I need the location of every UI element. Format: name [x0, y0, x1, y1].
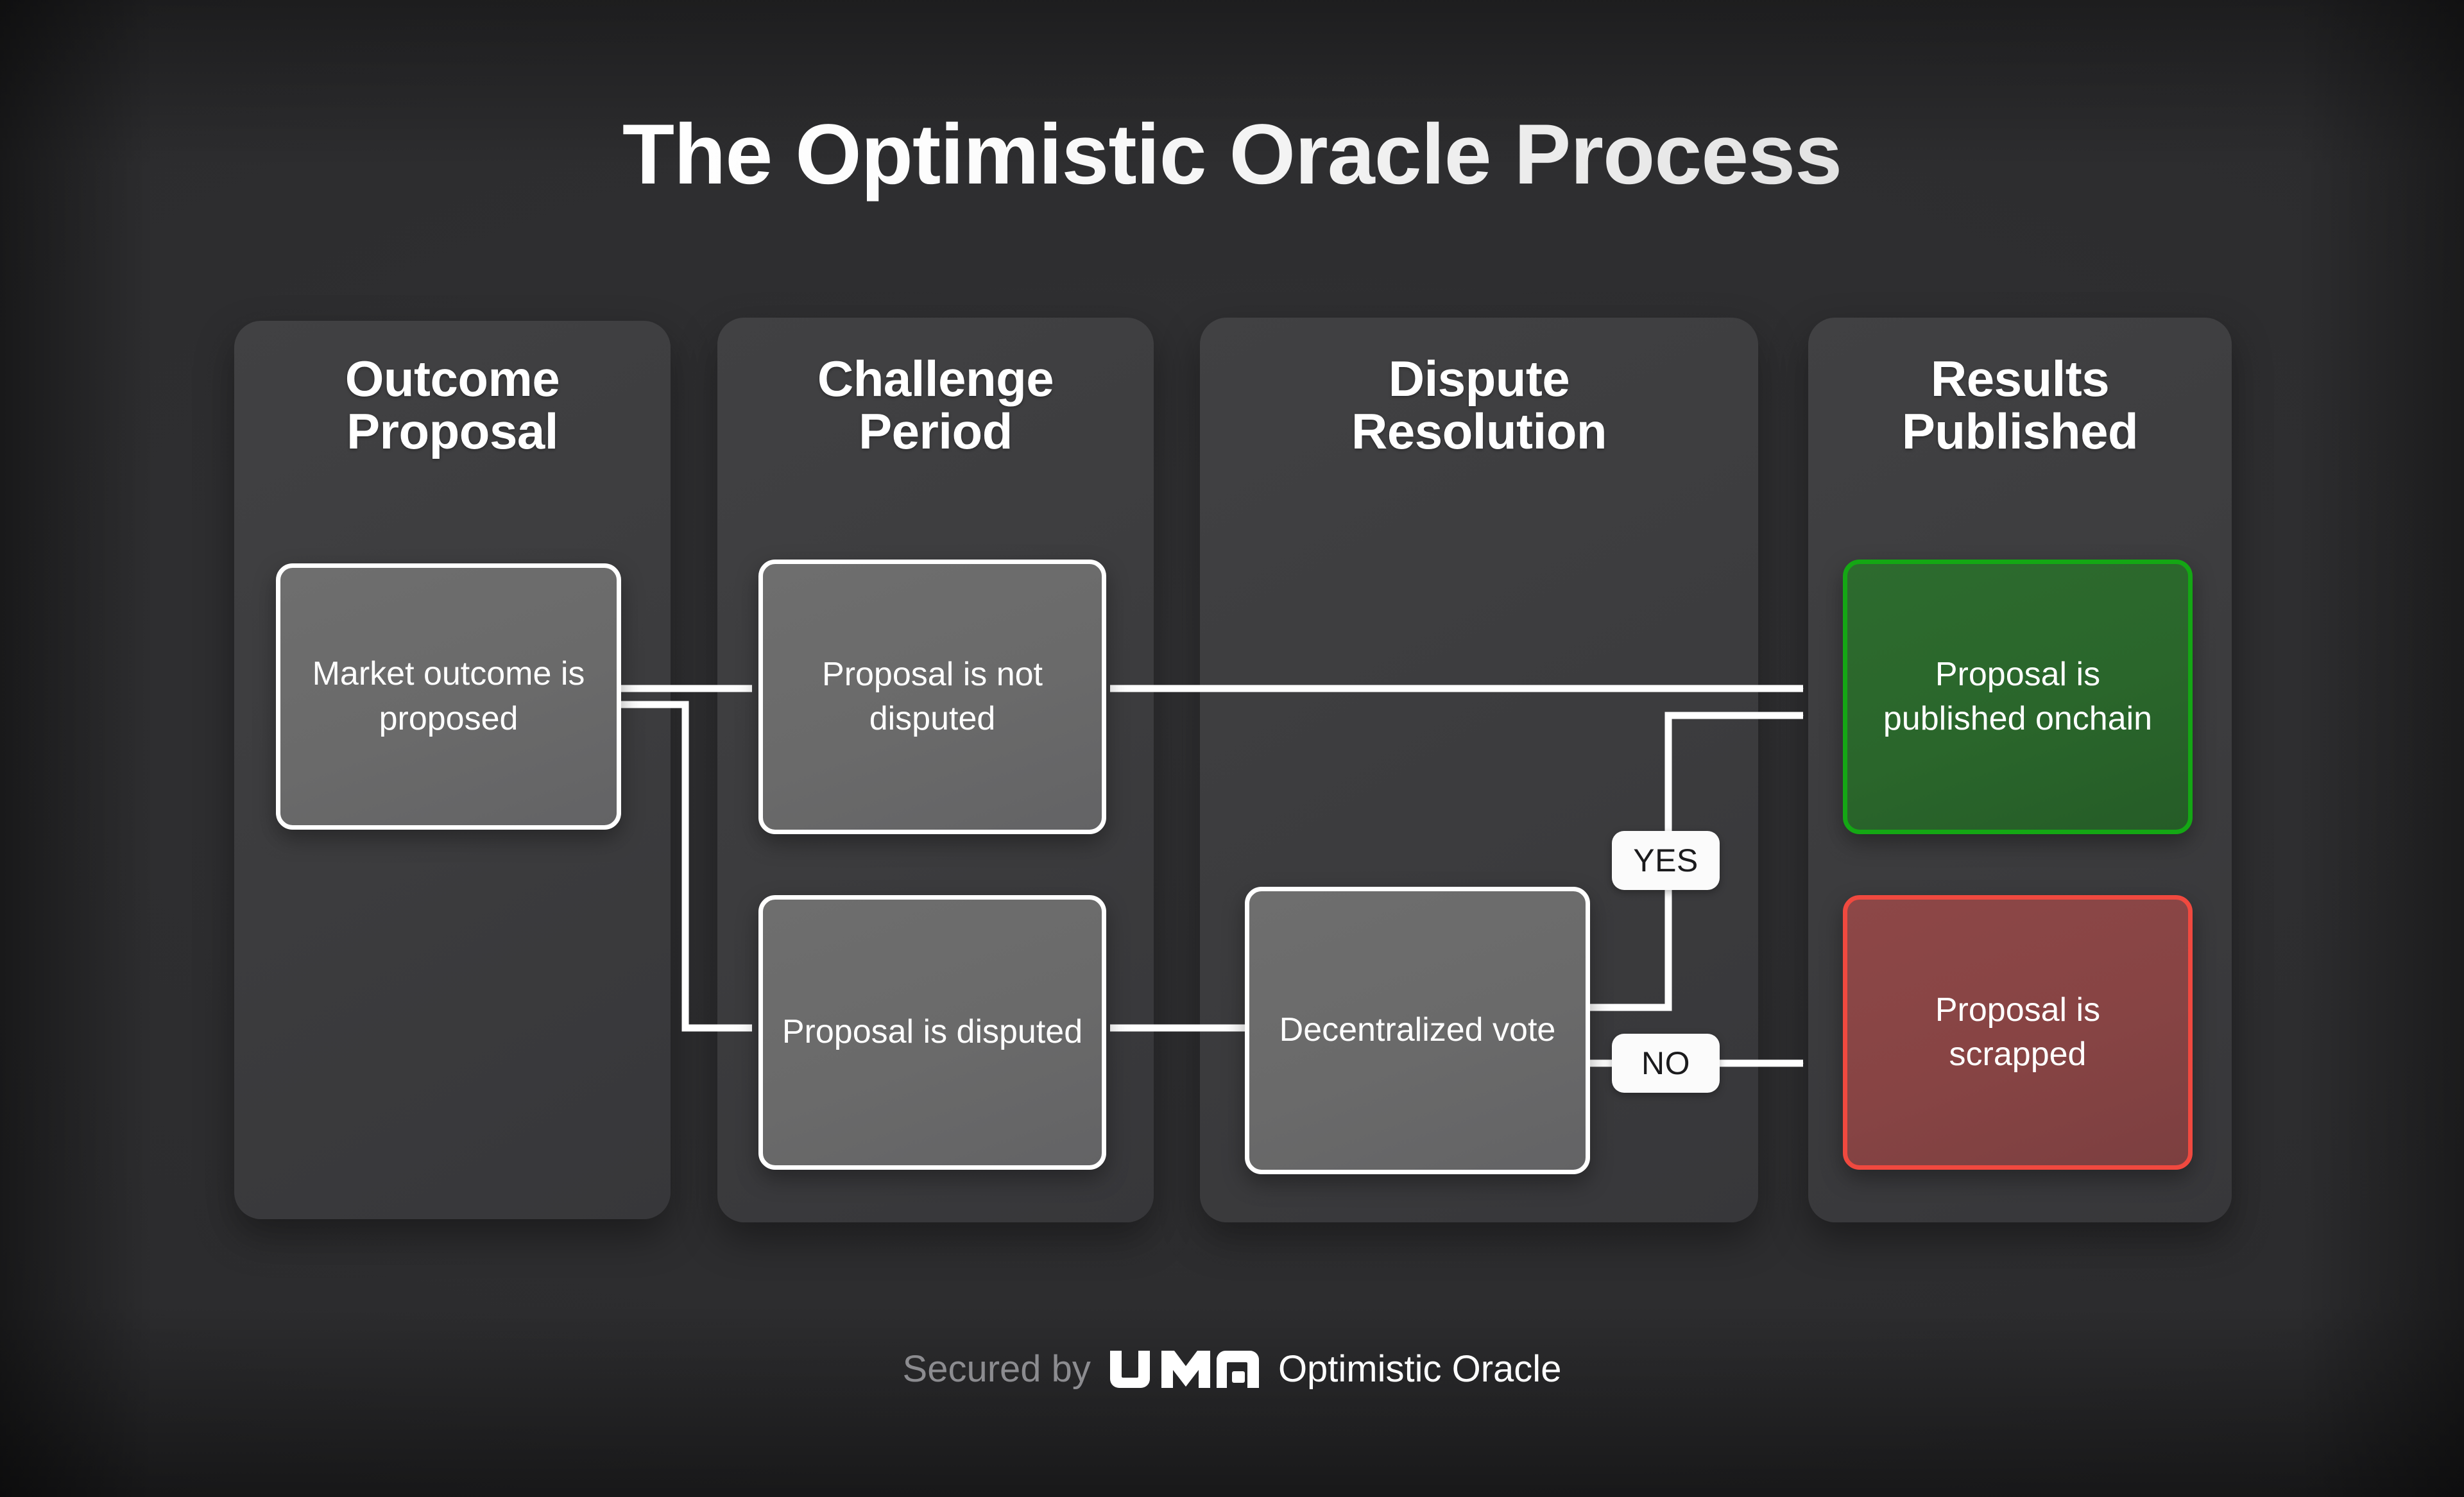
flowchart-stage: Outcome Proposal Challenge Period Disput…	[0, 0, 2464, 1497]
footer: Secured by Optimistic Oracle	[0, 1347, 2464, 1390]
node-proposal-scrapped[interactable]: Proposal is scrapped	[1843, 895, 2193, 1170]
edge-label-yes: YES	[1612, 831, 1720, 890]
node-label: Proposal is published onchain	[1864, 653, 2171, 741]
edge-label-no: NO	[1612, 1034, 1720, 1093]
node-label: Proposal is not disputed	[780, 653, 1085, 741]
node-label: Proposal is scrapped	[1864, 988, 2171, 1077]
node-label: Market outcome is proposed	[297, 652, 600, 740]
node-proposal-disputed[interactable]: Proposal is disputed	[758, 895, 1106, 1170]
edge-label-text: NO	[1641, 1045, 1690, 1082]
footer-product-label: Optimistic Oracle	[1278, 1347, 1562, 1390]
uma-logo-icon	[1109, 1349, 1260, 1389]
node-decentralized-vote[interactable]: Decentralized vote	[1245, 887, 1590, 1174]
edge-market-to-disputed	[621, 705, 706, 1028]
node-label: Proposal is disputed	[782, 1010, 1082, 1054]
node-market-outcome-proposed[interactable]: Market outcome is proposed	[276, 563, 621, 830]
edge-label-text: YES	[1633, 842, 1698, 879]
node-proposal-published-onchain[interactable]: Proposal is published onchain	[1843, 560, 2193, 834]
node-label: Decentralized vote	[1279, 1008, 1556, 1052]
footer-secured-by-label: Secured by	[903, 1347, 1091, 1390]
node-proposal-not-disputed[interactable]: Proposal is not disputed	[758, 560, 1106, 834]
